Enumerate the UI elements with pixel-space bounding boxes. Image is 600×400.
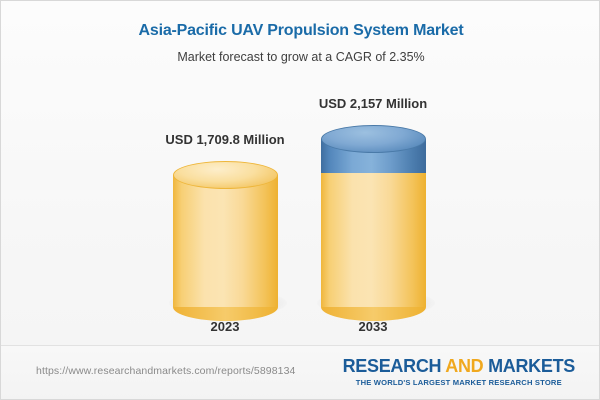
bar-2033-segment-base[interactable] <box>321 173 426 307</box>
logo-word-research: RESEARCH <box>343 356 442 376</box>
bar-2023-body <box>173 175 278 307</box>
bar-2023-cap <box>173 161 278 189</box>
chart-card: Asia-Pacific UAV Propulsion System Marke… <box>0 0 600 400</box>
bar-2023[interactable] <box>173 161 278 307</box>
bar-2033-segment-growth[interactable] <box>321 125 426 187</box>
plot-area: USD 1,709.8 Million 2023 USD 2,157 Milli… <box>1 1 600 346</box>
bar-2033-cap <box>321 125 426 153</box>
logo-wordmark: RESEARCH AND MARKETS <box>343 357 575 376</box>
bar-value-label-2033: USD 2,157 Million <box>263 96 483 111</box>
bar-2033-body <box>321 173 426 307</box>
footer: https://www.researchandmarkets.com/repor… <box>1 345 600 399</box>
report-url-link[interactable]: https://www.researchandmarkets.com/repor… <box>36 365 295 377</box>
research-and-markets-logo[interactable]: RESEARCH AND MARKETS THE WORLD'S LARGEST… <box>343 357 575 387</box>
logo-word-and: AND <box>445 356 483 376</box>
x-axis-label-2033: 2033 <box>263 319 483 334</box>
logo-tagline: THE WORLD'S LARGEST MARKET RESEARCH STOR… <box>343 378 575 387</box>
logo-word-markets: MARKETS <box>488 356 575 376</box>
bar-value-label-2023: USD 1,709.8 Million <box>115 132 335 147</box>
